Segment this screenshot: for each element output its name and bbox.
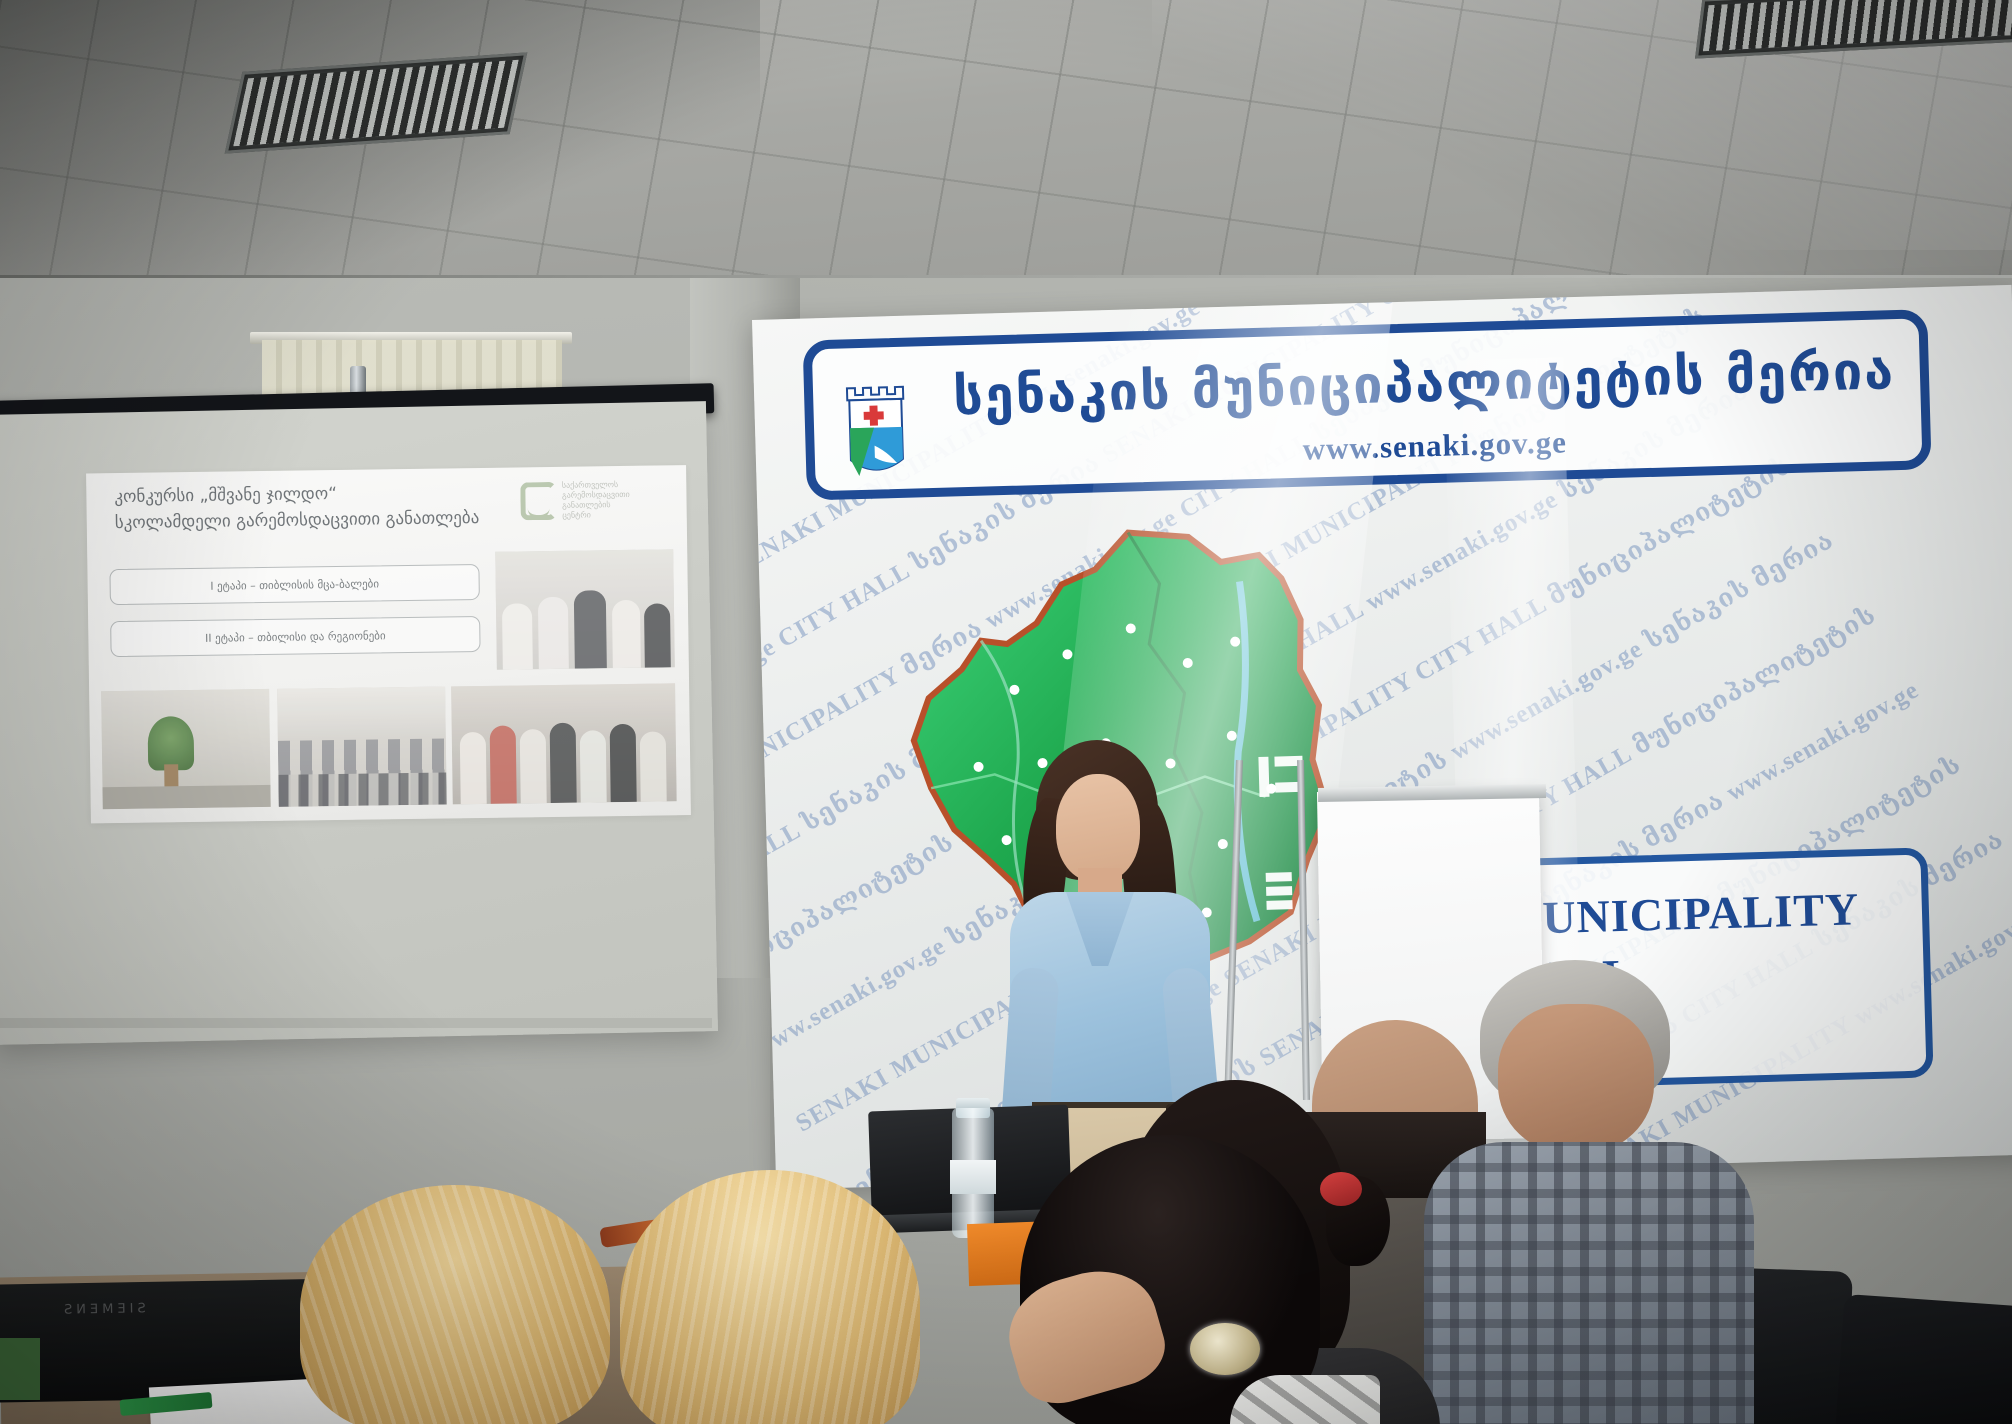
projector-screen: კონკურსი „მშვანე ჯილდო“ სკოლამდელი გარემ…: [0, 401, 718, 1045]
photo-scene: სენაკის მერია SENAKI MUNICIPALITY www.se…: [0, 0, 2012, 1424]
audience-plaid-shirt: [1424, 1142, 1754, 1424]
ceiling: [0, 0, 2012, 290]
audience-hair: [300, 1185, 610, 1424]
logo-line-3: ცენტრი: [562, 509, 671, 521]
slide-step-1: I ეტაპი – თიბლისის მცა-ბალები: [109, 564, 479, 605]
hair-clip-accessory: [1190, 1323, 1260, 1375]
presentation-slide: კონკურსი „მშვანე ჯილდო“ სკოლამდელი გარემ…: [86, 465, 691, 823]
audience-head: [1498, 1004, 1654, 1154]
audience-blonde-woman-left: [300, 1185, 610, 1424]
slide-organization-logo: საქართველოს გარემოსდაცვითი განათლების ცე…: [520, 477, 671, 523]
senaki-coat-of-arms-icon: [838, 366, 929, 480]
screen-bottom-edge: [0, 1018, 712, 1028]
slide-photo-4: [451, 683, 677, 804]
leaf-logo-icon: [520, 482, 556, 520]
monitor-side-panel: [0, 1338, 40, 1400]
audience-gray-haired-man: [1450, 960, 1720, 1424]
ceiling-shadow: [0, 0, 760, 290]
audience-shoulder: [1230, 1375, 1380, 1424]
shoulder-pattern: [1230, 1375, 1380, 1424]
presenter-face: [1056, 774, 1140, 882]
bottle-label: [950, 1160, 996, 1194]
slide-title-line2: სკოლამდელი გარემოსდაცვითი განათლება: [115, 508, 480, 533]
slide-step-2: II ეტაპი – თბილისი და რეგიონები: [110, 616, 480, 657]
audience-hair: [620, 1170, 920, 1424]
slide-photo-2: [101, 689, 271, 809]
audience-blonde-woman-center: [620, 1170, 920, 1424]
slide-photo-3: [277, 686, 447, 806]
banner-title-georgian: სენაკის მუნიციპალიტეტის მერია: [952, 341, 1913, 428]
slide-title-line1: კონკურსი „მშვანე ჯილდო“: [114, 484, 337, 507]
logo-line-2: გარემოსდაცვითი განათლების: [562, 489, 671, 511]
office-chair: [1836, 1294, 2012, 1424]
slide-logo-text: საქართველოს გარემოსდაცვითი განათლების ცე…: [562, 479, 671, 521]
monitor-brand-label: SIEMENS: [60, 1301, 146, 1317]
slide-photo-1: [495, 549, 675, 669]
